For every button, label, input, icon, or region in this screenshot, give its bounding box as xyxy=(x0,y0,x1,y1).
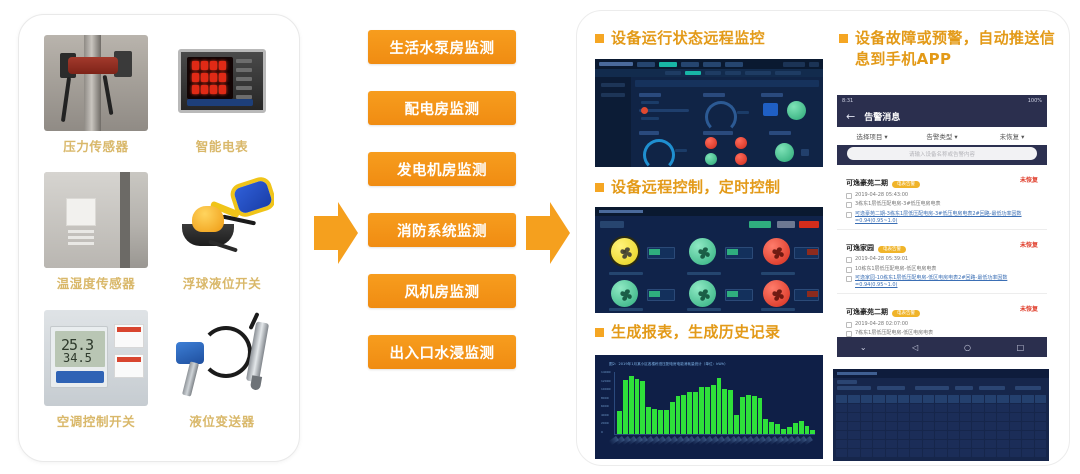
fan-device-4[interactable] xyxy=(611,280,638,307)
device-item-ac-control-switch[interactable]: 25.334.5 空调控制开关 xyxy=(39,310,153,441)
table-cell xyxy=(886,413,897,421)
alarm-project: 可逸豪苑二期 xyxy=(846,179,888,187)
table-cell xyxy=(948,413,959,421)
bullet-square-icon xyxy=(839,34,848,43)
chart-ytick-label: 8000 xyxy=(601,396,611,400)
table-cell xyxy=(960,413,971,421)
chart-bar xyxy=(640,381,645,434)
capability-label: 设备远程控制，定时控制 xyxy=(611,177,780,198)
capability-label: 设备运行状态远程监控 xyxy=(611,28,765,49)
table-column-header xyxy=(848,395,859,403)
alarm-badge: 电表告警 xyxy=(878,246,906,253)
table-cell xyxy=(873,440,884,448)
chart-ytick-label: 4000 xyxy=(601,413,611,417)
table-cell xyxy=(836,440,847,448)
table-column-header xyxy=(985,395,996,403)
table-cell xyxy=(1010,422,1021,430)
chart-bar xyxy=(805,426,810,434)
phone-screen-title: 告警消息 xyxy=(864,110,900,123)
table-grid xyxy=(836,395,1046,457)
table-cell xyxy=(861,422,872,430)
table-cell xyxy=(1010,404,1021,412)
table-cell xyxy=(886,449,897,457)
fan-icon xyxy=(615,242,634,261)
table-column-header xyxy=(997,395,1008,403)
chart-ytick-label: 0 xyxy=(601,430,611,434)
phone-app-header: ← 告警消息 xyxy=(837,106,1047,127)
bar-chart: 图2：2019年1月某小区各楼栋低压配电房电能消耗量统计（单位：kWh） 140… xyxy=(595,355,823,459)
alarm-time: 2019-04-28 05:43:00 xyxy=(855,192,908,199)
chart-bar xyxy=(635,379,640,434)
table-row xyxy=(836,413,1046,421)
infographic-root: 压力传感器 xyxy=(0,0,1080,474)
arrow-middle-to-right xyxy=(524,200,572,266)
table-column-header xyxy=(1022,395,1033,403)
smart-meter-photo xyxy=(170,35,274,131)
chart-title: 图2：2019年1月某小区各楼栋低压配电房电能消耗量统计（单位：kWh） xyxy=(609,362,728,367)
table-cell xyxy=(923,431,934,439)
alarm-device: 7栋东1层低压配电房-低区电房电表 xyxy=(855,330,933,337)
triangle-back-icon[interactable]: ◁ xyxy=(912,343,918,352)
alarm-status: 未恢复 xyxy=(1020,240,1038,249)
table-cell xyxy=(1035,440,1046,448)
chart-bar xyxy=(763,419,768,434)
chart-ytick-label: 10000 xyxy=(601,387,611,391)
temp-humidity-sensor-photo xyxy=(44,172,148,268)
fan-icon xyxy=(693,242,712,261)
table-column-header xyxy=(886,395,897,403)
filter-status[interactable]: 未恢复 ▾ xyxy=(977,131,1047,141)
table-cell xyxy=(997,422,1008,430)
float-level-switch-photo xyxy=(170,172,274,268)
dashboard-sidebar xyxy=(595,77,631,167)
table-cell xyxy=(935,449,946,457)
remote-control-screenshot[interactable] xyxy=(595,207,823,313)
chart-bar xyxy=(676,396,681,434)
table-cell xyxy=(985,431,996,439)
table-cell xyxy=(1010,431,1021,439)
table-cell xyxy=(836,422,847,430)
dashboard-content xyxy=(631,77,823,167)
table-cell xyxy=(997,431,1008,439)
info-icon xyxy=(846,212,852,218)
chart-bar xyxy=(623,380,628,434)
square-recent-icon[interactable]: □ xyxy=(1017,343,1025,352)
table-cell xyxy=(898,431,909,439)
device-gallery-card: 压力传感器 xyxy=(18,14,300,462)
platform-capability-card: 设备运行状态远程监控 设备故障或预警，自动推送信息到手机APP 设备远程控制，定… xyxy=(576,10,1070,466)
fan-device-6[interactable] xyxy=(763,280,790,307)
clock-icon xyxy=(846,193,852,199)
chart-bar xyxy=(617,411,622,434)
table-column-header xyxy=(972,395,983,403)
table-cell xyxy=(898,413,909,421)
table-cell xyxy=(861,404,872,412)
table-column-header xyxy=(935,395,946,403)
fan-device-2[interactable] xyxy=(689,238,716,265)
table-cell xyxy=(910,413,921,421)
table-cell xyxy=(886,422,897,430)
table-cell xyxy=(848,404,859,412)
table-cell xyxy=(935,431,946,439)
capability-title-monitoring: 设备运行状态远程监控 xyxy=(595,28,825,49)
chart-bar xyxy=(658,410,663,434)
chart-bar xyxy=(746,395,751,434)
table-cell xyxy=(910,422,921,430)
table-row xyxy=(836,431,1046,439)
table-cell xyxy=(972,422,983,430)
device-item-level-transmitter[interactable]: 液位变送器 xyxy=(165,310,279,441)
fan-toggle-6[interactable] xyxy=(794,289,819,301)
alarm-device: 10栋东1层低压配电房-低区电房电表 xyxy=(855,266,936,273)
table-cell xyxy=(848,449,859,457)
scenario-pill-5[interactable]: 风机房监测 xyxy=(368,274,516,308)
table-cell xyxy=(848,422,859,430)
table-cell xyxy=(960,422,971,430)
table-cell xyxy=(985,413,996,421)
chart-ytick-label: 2000 xyxy=(601,421,611,425)
chart-ytick-label: 12000 xyxy=(601,379,611,383)
table-toolbar xyxy=(837,380,1045,392)
table-cell xyxy=(886,431,897,439)
fan-toggle-5[interactable] xyxy=(725,289,753,301)
scenario-pill-4[interactable]: 消防系统监测 xyxy=(368,213,516,247)
chart-bar xyxy=(810,430,815,434)
history-table xyxy=(833,369,1049,461)
chart-bar xyxy=(734,415,739,434)
chart-bar xyxy=(687,392,692,435)
chart-bar xyxy=(758,398,763,434)
table-cell xyxy=(861,431,872,439)
fan-device-3[interactable] xyxy=(763,238,790,265)
table-cell xyxy=(1010,440,1021,448)
chart-x-axis xyxy=(616,436,815,450)
alarm-detail[interactable]: 可逸家园-10栋东1层低压配电房-低区电房电表2#回路-最低功率因数=0.94(… xyxy=(855,275,1038,289)
device-label: 压力传感器 xyxy=(63,136,129,155)
fan-label-1 xyxy=(609,272,643,275)
fan-label-6 xyxy=(761,308,795,311)
table-cell xyxy=(972,413,983,421)
table-cell xyxy=(910,440,921,448)
table-cell xyxy=(1035,413,1046,421)
mobile-alarm-screenshot[interactable]: 8:31 100% ← 告警消息 选择项目 ▾ 告警类型 ▾ 未恢复 ▾ 请输入… xyxy=(837,95,1047,357)
device-item-smart-meter[interactable]: 智能电表 xyxy=(165,35,279,166)
alarm-device: 3栋东1层低压配电房-3#低压电房电表 xyxy=(855,201,941,208)
table-cell xyxy=(948,431,959,439)
fan-icon xyxy=(767,284,786,303)
table-cell xyxy=(1010,449,1021,457)
table-cell xyxy=(960,449,971,457)
table-cell xyxy=(861,449,872,457)
fan-label-3 xyxy=(761,272,795,275)
chart-bar xyxy=(629,376,634,434)
scenario-pill-6[interactable]: 出入口水浸监测 xyxy=(368,335,516,369)
table-column-header xyxy=(873,395,884,403)
alarm-time: 2019-04-28 05:39:01 xyxy=(855,256,908,263)
chart-bar xyxy=(793,423,798,434)
device-label: 液位变送器 xyxy=(189,411,255,430)
table-cell xyxy=(1022,440,1033,448)
table-column-header xyxy=(948,395,959,403)
table-cell xyxy=(836,431,847,439)
report-chart-screenshot[interactable]: 图2：2019年1月某小区各楼栋低压配电房电能消耗量统计（单位：kWh） 140… xyxy=(595,355,823,459)
scenario-pill-3[interactable]: 发电机房监测 xyxy=(368,152,516,186)
table-cell xyxy=(898,422,909,430)
table-cell xyxy=(910,431,921,439)
table-cell xyxy=(935,422,946,430)
table-cell xyxy=(1022,404,1033,412)
alarm-badge: 电表告警 xyxy=(892,181,920,188)
pressure-sensor-photo xyxy=(44,35,148,131)
table-cell xyxy=(873,413,884,421)
device-icon xyxy=(846,202,852,208)
fan-toggle-3[interactable] xyxy=(794,247,819,259)
device-item-float-level-switch[interactable]: 浮球液位开关 xyxy=(165,172,279,303)
table-cell xyxy=(886,404,897,412)
table-cell xyxy=(836,404,847,412)
table-cell xyxy=(848,431,859,439)
device-item-temp-humidity-sensor[interactable]: 温湿度传感器 xyxy=(39,172,153,303)
chart-bar xyxy=(711,385,716,434)
search-placeholder: 请输入设备名称或告警内容 xyxy=(909,150,975,158)
table-cell xyxy=(861,413,872,421)
chart-bar xyxy=(670,402,675,434)
table-cell xyxy=(997,413,1008,421)
arrow-right-icon xyxy=(524,200,572,266)
alarm-item[interactable]: 可逸豪苑二期电表告警 未恢复 2019-04-28 02:07:00 7栋东1层… xyxy=(837,294,1047,337)
chart-bar xyxy=(652,409,657,434)
phone-filter-row: 选择项目 ▾ 告警类型 ▾ 未恢复 ▾ xyxy=(837,127,1047,145)
table-cell xyxy=(923,404,934,412)
fan-label-4 xyxy=(609,308,643,311)
scenario-pill-2[interactable]: 配电房监测 xyxy=(368,91,516,125)
alarm-project: 可逸豪苑二期 xyxy=(846,308,888,316)
fan-icon xyxy=(693,284,712,303)
capability-title-remote-control: 设备远程控制，定时控制 xyxy=(595,177,830,198)
chart-bar xyxy=(681,395,686,434)
scenario-pill-1[interactable]: 生活水泵房监测 xyxy=(368,30,516,64)
monitoring-dashboard-screenshot[interactable] xyxy=(595,59,823,167)
status-left: 8:31 xyxy=(842,98,853,104)
table-row xyxy=(836,440,1046,448)
chart-y-axis: 14000120001000080006000400020000 xyxy=(601,370,611,434)
chart-bar xyxy=(717,378,722,434)
table-cell xyxy=(898,449,909,457)
status-right: 100% xyxy=(1028,98,1042,104)
chart-bar xyxy=(693,392,698,434)
table-cell xyxy=(923,422,934,430)
filter-project[interactable]: 选择项目 ▾ xyxy=(837,131,907,141)
fan-icon xyxy=(615,284,634,303)
table-cell xyxy=(873,449,884,457)
table-cell xyxy=(1022,413,1033,421)
table-cell xyxy=(861,440,872,448)
table-cell xyxy=(886,440,897,448)
table-cell xyxy=(1035,422,1046,430)
phone-search-box[interactable]: 请输入设备名称或告警内容 xyxy=(847,147,1037,160)
table-column-header xyxy=(960,395,971,403)
table-header-bar xyxy=(833,369,1049,378)
table-cell xyxy=(923,449,934,457)
chart-bar xyxy=(722,389,727,434)
alarm-list[interactable]: 可逸豪苑二期电表告警 未恢复 2019-04-28 05:43:00 3栋东1层… xyxy=(837,165,1047,337)
phone-status-bar: 8:31 100% xyxy=(837,95,1047,106)
legend-fault xyxy=(799,221,819,228)
table-cell xyxy=(960,440,971,448)
alarm-project: 可逸家园 xyxy=(846,244,874,252)
history-table-screenshot[interactable] xyxy=(833,369,1049,461)
table-cell xyxy=(910,404,921,412)
chart-ytick-label: 6000 xyxy=(601,404,611,408)
capability-title-alarm-push: 设备故障或预警，自动推送信息到手机APP xyxy=(839,28,1057,70)
device-label: 温湿度传感器 xyxy=(57,273,136,292)
arrow-left-to-middle xyxy=(312,200,360,266)
table-cell xyxy=(848,413,859,421)
table-cell xyxy=(910,449,921,457)
fan-toggle-4[interactable] xyxy=(647,289,675,301)
circle-home-icon[interactable]: ○ xyxy=(964,343,971,352)
table-cell xyxy=(1010,413,1021,421)
table-cell xyxy=(960,404,971,412)
table-cell xyxy=(972,404,983,412)
table-cell xyxy=(972,449,983,457)
alarm-detail[interactable]: 可逸豪苑二期-3栋东1层低压配电房-3#低压电房电表2#回路-最低功率因数=0.… xyxy=(855,211,1038,225)
fan-toggle-2[interactable] xyxy=(725,247,753,259)
table-cell xyxy=(848,440,859,448)
chart-bar xyxy=(787,427,792,434)
chart-bar xyxy=(740,397,745,434)
chart-bar xyxy=(799,421,804,434)
chevron-down-icon[interactable]: ⌄ xyxy=(860,343,867,352)
chart-bar xyxy=(775,424,780,434)
alarm-badge: 电表告警 xyxy=(892,310,920,317)
table-cell xyxy=(972,431,983,439)
level-transmitter-photo xyxy=(170,310,274,406)
table-cell xyxy=(935,404,946,412)
phone-nav-bar: ⌄ ◁ ○ □ xyxy=(837,337,1047,357)
table-cell xyxy=(836,413,847,421)
table-cell xyxy=(923,440,934,448)
table-cell xyxy=(935,413,946,421)
table-cell xyxy=(1022,431,1033,439)
table-cell xyxy=(923,413,934,421)
table-cell xyxy=(873,422,884,430)
control-header xyxy=(595,207,823,216)
table-column-header xyxy=(861,395,872,403)
fan-label-2 xyxy=(687,272,721,275)
table-column-header xyxy=(1010,395,1021,403)
bullet-square-icon xyxy=(595,183,604,192)
table-cell xyxy=(898,404,909,412)
chart-bar xyxy=(728,390,733,434)
capability-title-reports: 生成报表，生成历史记录 xyxy=(595,322,830,343)
chart-bar xyxy=(752,396,757,434)
bullet-square-icon xyxy=(595,34,604,43)
table-cell xyxy=(972,440,983,448)
table-cell xyxy=(948,404,959,412)
device-label: 浮球液位开关 xyxy=(183,273,262,292)
table-cell xyxy=(948,440,959,448)
device-icon xyxy=(846,267,852,273)
clock-icon xyxy=(846,322,852,328)
table-cell xyxy=(997,440,1008,448)
table-cell xyxy=(1022,422,1033,430)
capability-label: 设备故障或预警，自动推送信息到手机APP xyxy=(855,28,1057,70)
dashboard-navbar xyxy=(595,59,823,69)
fan-device-5[interactable] xyxy=(689,280,716,307)
fan-icon xyxy=(767,242,786,261)
table-cell xyxy=(985,422,996,430)
alarm-time: 2019-04-28 02:07:00 xyxy=(855,321,908,328)
chart-bar xyxy=(705,387,710,434)
table-cell xyxy=(898,440,909,448)
table-cell xyxy=(997,404,1008,412)
alarm-item[interactable]: 可逸豪苑二期电表告警 未恢复 2019-04-28 05:43:00 3栋东1层… xyxy=(837,165,1047,230)
bullet-square-icon xyxy=(595,328,604,337)
table-column-header xyxy=(1035,395,1046,403)
table-cell xyxy=(935,440,946,448)
table-cell xyxy=(1035,431,1046,439)
table-column-header xyxy=(836,395,847,403)
ac-control-switch-photo: 25.334.5 xyxy=(44,310,148,406)
alarm-status: 未恢复 xyxy=(1020,304,1038,313)
table-cell xyxy=(1022,449,1033,457)
table-row xyxy=(836,422,1046,430)
fan-toggle-1[interactable] xyxy=(647,247,675,259)
table-cell xyxy=(997,449,1008,457)
fan-device-1[interactable] xyxy=(611,238,638,265)
chart-ytick-label: 14000 xyxy=(601,370,611,374)
alarm-status: 未恢复 xyxy=(1020,175,1038,184)
chart-bar xyxy=(699,387,704,434)
table-cell xyxy=(960,431,971,439)
device-item-pressure-sensor[interactable]: 压力传感器 xyxy=(39,35,153,166)
arrow-right-icon xyxy=(312,200,360,266)
table-cell xyxy=(873,404,884,412)
table-cell xyxy=(1035,404,1046,412)
table-row xyxy=(836,404,1046,412)
chart-bar xyxy=(646,407,651,434)
arrow-left-icon[interactable]: ← xyxy=(846,111,855,122)
table-row xyxy=(836,449,1046,457)
table-cell xyxy=(1035,449,1046,457)
chart-bar xyxy=(769,422,774,434)
chart-bar xyxy=(664,410,669,434)
table-cell xyxy=(948,449,959,457)
table-column-header xyxy=(923,395,934,403)
device-label: 空调控制开关 xyxy=(57,411,136,430)
device-grid: 压力传感器 xyxy=(39,35,279,441)
control-body xyxy=(595,216,823,313)
legend-stopped xyxy=(777,221,795,228)
device-label: 智能电表 xyxy=(196,136,248,155)
table-cell xyxy=(985,404,996,412)
chart-bar xyxy=(781,429,786,434)
clock-icon xyxy=(846,257,852,263)
filter-alarm-type[interactable]: 告警类型 ▾ xyxy=(907,131,977,141)
capability-label: 生成报表，生成历史记录 xyxy=(611,322,780,343)
table-cell xyxy=(873,431,884,439)
table-column-header xyxy=(910,395,921,403)
table-header-row xyxy=(836,395,1046,403)
monitoring-scenario-list: 生活水泵房监测 配电房监测 发电机房监测 消防系统监测 风机房监测 出入口水浸监… xyxy=(368,30,518,440)
dashboard-subtabs xyxy=(595,69,823,77)
alarm-item[interactable]: 可逸家园电表告警 未恢复 2019-04-28 05:39:01 10栋东1层低… xyxy=(837,230,1047,295)
fan-label-5 xyxy=(687,308,721,311)
table-column-header xyxy=(898,395,909,403)
info-icon xyxy=(846,276,852,282)
table-cell xyxy=(836,449,847,457)
